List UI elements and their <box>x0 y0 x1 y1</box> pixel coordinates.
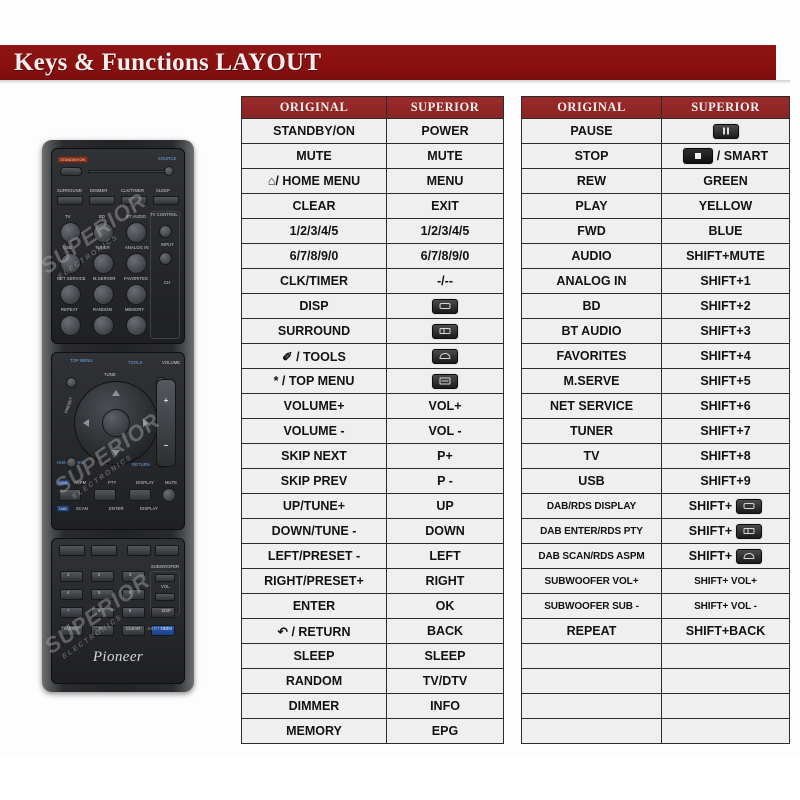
remote-label-tune-up: TUNE <box>104 373 116 378</box>
cell-original: ANALOG IN <box>522 269 662 294</box>
remote-dpad-up-icon <box>112 390 120 396</box>
remote-key-tv-power <box>159 225 172 238</box>
cell-superior: P+ <box>387 444 504 469</box>
cell-original: CLEAR <box>242 194 387 219</box>
remote-label-top-menu: TOP MENU <box>70 359 93 364</box>
remote-label-display: DISPLAY <box>136 481 154 486</box>
remote-label-dab-enter: ENTER <box>109 507 124 512</box>
remote-key-5 <box>91 589 114 600</box>
remote-label-aspm: ASPM <box>74 481 86 486</box>
remote-key-volume-rocker: + − <box>156 379 176 467</box>
cell-superior: RIGHT <box>387 569 504 594</box>
cell-superior: SHIFT+ <box>662 544 790 569</box>
cell-superior: DOWN <box>387 519 504 544</box>
cell-superior: MENU <box>387 169 504 194</box>
cell-superior: SHIFT+7 <box>662 419 790 444</box>
cell-superior-text: SHIFT+ <box>689 549 732 563</box>
cell-original: DIMMER <box>242 694 387 719</box>
remote-keypad-label-3: 3 <box>129 573 131 578</box>
cell-superior-text: SHIFT+ <box>689 524 732 538</box>
remote-label-clear: CLEAR <box>126 627 140 632</box>
cell-superior: SHIFT+5 <box>662 369 790 394</box>
remote-key-bt-audio <box>126 222 147 243</box>
cell-original: SKIP PREV <box>242 469 387 494</box>
remote-label-input: INPUT <box>161 243 174 248</box>
remote-control-image: STANDBY/ON SOURCE SURROUND DIMMER CLK/TI… <box>42 140 194 692</box>
cell-superior: OK <box>387 594 504 619</box>
pause-key-icon <box>713 124 739 139</box>
remote-label-m-server: M.SERVER <box>93 277 115 282</box>
cell-original: RIGHT/PRESET+ <box>242 569 387 594</box>
cell-original: DOWN/TUNE - <box>242 519 387 544</box>
remote-key-net-service <box>60 284 81 305</box>
cell-original: TUNER <box>522 419 662 444</box>
remote-label-random: RANDOM <box>93 308 112 313</box>
cell-original: MEMORY <box>242 719 387 744</box>
remote-key-repeat <box>60 315 81 336</box>
cell-original: M.SERVE <box>522 369 662 394</box>
table-row: SURROUND <box>242 319 504 344</box>
table-row: UP/TUNE+UP <box>242 494 504 519</box>
table-row: RANDOMTV/DTV <box>242 669 504 694</box>
table-row: DAB/RDS DISPLAYSHIFT+ <box>522 494 790 519</box>
cell-superior: BLUE <box>662 219 790 244</box>
cell-superior: SHIFT+9 <box>662 469 790 494</box>
remote-key-usb <box>60 253 81 274</box>
remote-key-3 <box>122 571 145 582</box>
remote-key-bd <box>93 222 114 243</box>
table-row: SLEEPSLEEP <box>242 644 504 669</box>
page-root: Keys & Functions LAYOUT STANDBY/ON SOURC… <box>0 0 800 800</box>
table-row: SKIP NEXTP+ <box>242 444 504 469</box>
remote-keypad-label-5: 5 <box>98 591 100 596</box>
table-row: MUTEMUTE <box>242 144 504 169</box>
remote-brand-logo: Pioneer <box>42 649 194 666</box>
table-row <box>522 644 790 669</box>
cell-superior: SHIFT+8 <box>662 444 790 469</box>
cell-superior: SHIFT+ <box>662 519 790 544</box>
remote-keypad-label-9: 9 <box>129 609 131 614</box>
remote-label-bt-audio: BT AUDIO <box>126 215 146 220</box>
table-row: BT AUDIOSHIFT+3 <box>522 319 790 344</box>
cell-original: DAB ENTER/RDS PTY <box>522 519 662 544</box>
remote-label-dimmer: DIMMER <box>90 189 107 194</box>
cell-superior: 6/7/8/9/0 <box>387 244 504 269</box>
remote-model-code: AXD7742 <box>147 626 168 631</box>
topmenu-key-icon <box>432 374 458 389</box>
cell-superior: UP <box>387 494 504 519</box>
remote-label-subwoofer: SUBWOOFER <box>151 565 179 570</box>
cell-original: SKIP NEXT <box>242 444 387 469</box>
remote-key-memory <box>126 315 147 336</box>
cell-superior: YELLOW <box>662 194 790 219</box>
table-row <box>522 694 790 719</box>
table-row <box>522 719 790 744</box>
remote-label-analog-in: ANALOG IN <box>125 246 149 251</box>
cell-original: MUTE <box>242 144 387 169</box>
remote-dpad-right-icon <box>143 419 149 427</box>
table-row: BDSHIFT+2 <box>522 294 790 319</box>
table-row: CLEAREXIT <box>242 194 504 219</box>
cell-original: CLK/TIMER <box>242 269 387 294</box>
page-banner: Keys & Functions LAYOUT <box>0 45 776 80</box>
remote-label-audio: AUDIO <box>64 627 78 632</box>
table-row: TVSHIFT+8 <box>522 444 790 469</box>
remote-keypad-label-8: 8 <box>98 609 100 614</box>
table-row: SKIP PREVP - <box>242 469 504 494</box>
remote-key-7 <box>60 607 83 618</box>
table-header-row: ORIGINAL SUPERIOR <box>242 97 504 119</box>
column-header-original: ORIGINAL <box>522 97 662 119</box>
remote-keypad-label-4: 4 <box>67 591 69 596</box>
cell-original: UP/TUNE+ <box>242 494 387 519</box>
remote-label-sleep: SLEEP <box>156 189 170 194</box>
remote-label-dab-display: DISPLAY <box>140 507 158 512</box>
cell-superior: SHIFT+2 <box>662 294 790 319</box>
cell-superior: MUTE <box>387 144 504 169</box>
table-row: FWDBLUE <box>522 219 790 244</box>
remote-label-vol: VOL <box>161 585 170 590</box>
table-row <box>522 669 790 694</box>
tools-key-icon <box>736 549 762 564</box>
cell-superior: SHIFT+ VOL - <box>662 594 790 619</box>
volume-up-icon: + <box>164 396 169 405</box>
table-body-left: STANDBY/ONPOWERMUTEMUTE⌂/ HOME MENUMENUC… <box>242 119 504 744</box>
surround-key-icon <box>432 324 458 339</box>
stop-key-icon <box>683 148 713 164</box>
remote-key-9 <box>122 607 145 618</box>
cell-superior: LEFT <box>387 544 504 569</box>
cell-original: PAUSE <box>522 119 662 144</box>
cell-superior: / SMART <box>662 144 790 169</box>
table-row: VOLUME+VOL+ <box>242 394 504 419</box>
cell-superior: SHIFT+BACK <box>662 619 790 644</box>
table-row: NET SERVICESHIFT+6 <box>522 394 790 419</box>
remote-label-tuner: TUNER <box>95 246 110 251</box>
remote-panel-middle: TOP MENU TOOLS VOLUME TUNE TUNE PRESET E… <box>51 352 185 530</box>
cell-superior: POWER <box>387 119 504 144</box>
cell-superior <box>662 119 790 144</box>
surround-key-icon <box>736 524 762 539</box>
footer-whitespace <box>0 756 800 800</box>
table-row: DAB ENTER/RDS PTYSHIFT+ <box>522 519 790 544</box>
cell-superior: INFO <box>387 694 504 719</box>
remote-key-sleep <box>153 196 179 205</box>
cell-original: REPEAT <box>522 619 662 644</box>
cell-superior: VOL+ <box>387 394 504 419</box>
remote-keypad-label-6: 6 <box>129 591 131 596</box>
remote-key-input <box>159 252 172 265</box>
remote-body: STANDBY/ON SOURCE SURROUND DIMMER CLK/TI… <box>42 140 194 692</box>
cell-original: 6/7/8/9/0 <box>242 244 387 269</box>
cell-superior-empty <box>662 719 790 744</box>
remote-key-dimmer <box>89 196 115 205</box>
remote-dpad <box>74 381 158 465</box>
cell-original: TV <box>522 444 662 469</box>
cell-superior <box>387 294 504 319</box>
remote-label-clktimer: CLK/TIMER <box>121 189 144 194</box>
table-row: STANDBY/ONPOWER <box>242 119 504 144</box>
disp-key-icon <box>736 499 762 514</box>
disp-key-icon <box>432 299 458 314</box>
cell-original: AUDIO <box>522 244 662 269</box>
remote-key-skip-next <box>91 545 117 556</box>
cell-superior <box>387 344 504 369</box>
remote-label-bd: BD <box>99 215 105 220</box>
cell-superior: VOL - <box>387 419 504 444</box>
cell-superior: SHIFT+3 <box>662 319 790 344</box>
remote-label-rds: RDS <box>57 480 69 486</box>
cell-superior: SHIFT+MUTE <box>662 244 790 269</box>
remote-label-dsp: DSP <box>162 609 171 614</box>
cell-superior: TV/DTV <box>387 669 504 694</box>
remote-label-tv: TV <box>65 215 71 220</box>
remote-label-scan: SCAN <box>76 507 88 512</box>
table-row: PLAYYELLOW <box>522 194 790 219</box>
cell-original-empty <box>522 719 662 744</box>
cell-superior: SLEEP <box>387 644 504 669</box>
table-row: DOWN/TUNE -DOWN <box>242 519 504 544</box>
mapping-table-right: ORIGINAL SUPERIOR PAUSESTOP/ SMARTREWGRE… <box>521 96 790 744</box>
table-row: RIGHT/PRESET+RIGHT <box>242 569 504 594</box>
remote-label-standby: STANDBY/ON <box>58 157 87 163</box>
cell-original: SUBWOOFER VOL+ <box>522 569 662 594</box>
table-row: 6/7/8/9/06/7/8/9/0 <box>242 244 504 269</box>
cell-original: PLAY <box>522 194 662 219</box>
remote-key-analog-in <box>126 253 147 274</box>
cell-original: RANDOM <box>242 669 387 694</box>
table-row: FAVORITESSHIFT+4 <box>522 344 790 369</box>
cell-original: SUBWOOFER SUB - <box>522 594 662 619</box>
table-row: TUNERSHIFT+7 <box>522 419 790 444</box>
remote-key-8 <box>91 607 114 618</box>
cell-original: BT AUDIO <box>522 319 662 344</box>
cell-superior: SHIFT+1 <box>662 269 790 294</box>
remote-key-source <box>164 166 174 176</box>
cell-original: 1/2/3/4/5 <box>242 219 387 244</box>
cell-original: BD <box>522 294 662 319</box>
remote-key-skip-prev <box>59 545 85 556</box>
remote-key-subwoofer-up <box>155 574 175 582</box>
remote-label-preset: PRESET <box>64 397 74 414</box>
table-row: DISP <box>242 294 504 319</box>
cell-original: VOLUME - <box>242 419 387 444</box>
remote-label-source: SOURCE <box>158 157 176 162</box>
table-row: ⌂/ HOME MENUMENU <box>242 169 504 194</box>
cell-superior: EPG <box>387 719 504 744</box>
remote-label-net-service: NET SERVICE <box>57 277 86 282</box>
remote-key-play <box>94 489 116 501</box>
remote-label-repeat: REPEAT <box>61 308 78 313</box>
column-header-original: ORIGINAL <box>242 97 387 119</box>
remote-key-1 <box>60 571 83 582</box>
cell-original: LEFT/PRESET - <box>242 544 387 569</box>
remote-key-top-menu <box>66 377 77 388</box>
table-header-row: ORIGINAL SUPERIOR <box>522 97 790 119</box>
remote-label-memory: MEMORY <box>125 308 144 313</box>
remote-label-pty: PTY <box>108 481 116 486</box>
cell-original-empty <box>522 669 662 694</box>
table-body-right: PAUSESTOP/ SMARTREWGREENPLAYYELLOWFWDBLU… <box>522 119 790 744</box>
remote-label-mute: MUTE <box>165 481 177 486</box>
table-row: 1/2/3/4/51/2/3/4/5 <box>242 219 504 244</box>
table-row: AUDIOSHIFT+MUTE <box>522 244 790 269</box>
table-row: STOP/ SMART <box>522 144 790 169</box>
remote-label-ch: CH <box>164 281 170 286</box>
remote-key-mute <box>162 488 176 502</box>
remote-dpad-down-icon <box>112 450 120 456</box>
cell-superior: 1/2/3/4/5 <box>387 219 504 244</box>
table-row: ANALOG INSHIFT+1 <box>522 269 790 294</box>
cell-superior-empty <box>662 644 790 669</box>
table-row: CLK/TIMER-/-- <box>242 269 504 294</box>
cell-original: ENTER <box>242 594 387 619</box>
cell-original: ↶ / RETURN <box>242 619 387 644</box>
cell-superior: -/-- <box>387 269 504 294</box>
table-row: * / TOP MENU <box>242 369 504 394</box>
remote-label-favorites: FAVORITES <box>124 277 148 282</box>
cell-original: ⌂/ HOME MENU <box>242 169 387 194</box>
remote-label-volume: VOLUME <box>162 361 180 366</box>
table-row: VOLUME -VOL - <box>242 419 504 444</box>
remote-key-subwoofer-down <box>155 593 175 601</box>
table-row: REWGREEN <box>522 169 790 194</box>
mapping-table-left: ORIGINAL SUPERIOR STANDBY/ONPOWERMUTEMUT… <box>241 96 504 744</box>
remote-key-2 <box>91 571 114 582</box>
remote-keypad-label-1: 1 <box>67 573 69 578</box>
table-row: REPEATSHIFT+BACK <box>522 619 790 644</box>
remote-key-enter <box>102 409 130 437</box>
remote-panel-top: STANDBY/ON SOURCE SURROUND DIMMER CLK/TI… <box>51 148 185 344</box>
remote-keypad-label-0: 0 <box>99 627 101 632</box>
remote-key-tuner <box>93 253 114 274</box>
cell-original: FWD <box>522 219 662 244</box>
cell-original: USB <box>522 469 662 494</box>
remote-key-clktimer <box>121 196 147 205</box>
remote-key-4 <box>60 589 83 600</box>
remote-label-tools: TOOLS <box>128 361 143 366</box>
cell-original: FAVORITES <box>522 344 662 369</box>
cell-original: STANDBY/ON <box>242 119 387 144</box>
remote-key-tv <box>60 222 81 243</box>
cell-original: VOLUME+ <box>242 394 387 419</box>
remote-label-usb: USB <box>63 246 72 251</box>
cell-superior: P - <box>387 469 504 494</box>
remote-key-rew <box>127 545 151 556</box>
remote-key-bar <box>88 170 170 173</box>
cell-original-empty <box>522 694 662 719</box>
remote-key-0 <box>91 625 114 636</box>
remote-label-surround: SURROUND <box>57 189 82 194</box>
remote-label-tv-control: TV CONTROL <box>150 213 178 218</box>
cell-superior: SHIFT+4 <box>662 344 790 369</box>
table-row: DIMMERINFO <box>242 694 504 719</box>
remote-key-6 <box>122 589 145 600</box>
table-row: LEFT/PRESET -LEFT <box>242 544 504 569</box>
cell-original: NET SERVICE <box>522 394 662 419</box>
cell-original: SLEEP <box>242 644 387 669</box>
page-title: Keys & Functions LAYOUT <box>0 49 321 77</box>
table-row: PAUSE <box>522 119 790 144</box>
table-row: ENTEROK <box>242 594 504 619</box>
remote-key-favorites <box>126 284 147 305</box>
remote-key-pause <box>59 489 81 501</box>
column-header-superior: SUPERIOR <box>387 97 504 119</box>
table-row: SUBWOOFER SUB -SHIFT+ VOL - <box>522 594 790 619</box>
tools-key-icon <box>432 349 458 364</box>
remote-keypad-label-7: 7 <box>67 609 69 614</box>
remote-key-m-server <box>93 284 114 305</box>
table-row: SUBWOOFER VOL+SHIFT+ VOL+ <box>522 569 790 594</box>
banner-shadow <box>0 80 790 84</box>
cell-superior-text: SHIFT+ <box>689 499 732 513</box>
table-row: ✐ / TOOLS <box>242 344 504 369</box>
cell-original: STOP <box>522 144 662 169</box>
cell-superior: GREEN <box>662 169 790 194</box>
cell-superior <box>387 369 504 394</box>
cell-superior-empty <box>662 694 790 719</box>
column-header-superior: SUPERIOR <box>662 97 790 119</box>
remote-dpad-left-icon <box>83 419 89 427</box>
cell-original: DAB/RDS DISPLAY <box>522 494 662 519</box>
table-row: M.SERVESHIFT+5 <box>522 369 790 394</box>
cell-superior: BACK <box>387 619 504 644</box>
cell-original: ✐ / TOOLS <box>242 344 387 369</box>
cell-superior-text: / SMART <box>717 149 768 163</box>
cell-original: DISP <box>242 294 387 319</box>
remote-key-surround <box>57 196 83 205</box>
table-row: DAB SCAN/RDS ASPMSHIFT+ <box>522 544 790 569</box>
cell-superior: SHIFT+6 <box>662 394 790 419</box>
remote-key-stop <box>129 489 151 501</box>
remote-keypad-label-2: 2 <box>98 573 100 578</box>
remote-key-random <box>93 315 114 336</box>
remote-label-return: RETURN <box>132 463 150 468</box>
volume-down-icon: − <box>164 441 169 450</box>
remote-key-fwd <box>155 545 179 556</box>
cell-superior: SHIFT+ <box>662 494 790 519</box>
cell-original-empty <box>522 644 662 669</box>
remote-label-dab: DAB <box>57 506 69 512</box>
cell-superior: EXIT <box>387 194 504 219</box>
table-row: USBSHIFT+9 <box>522 469 790 494</box>
cell-superior: SHIFT+ VOL+ <box>662 569 790 594</box>
table-row: ↶ / RETURNBACK <box>242 619 504 644</box>
cell-original: DAB SCAN/RDS ASPM <box>522 544 662 569</box>
remote-key-standby <box>60 167 82 176</box>
table-row: MEMORYEPG <box>242 719 504 744</box>
cell-original: REW <box>522 169 662 194</box>
cell-superior-empty <box>662 669 790 694</box>
cell-superior <box>387 319 504 344</box>
cell-original: * / TOP MENU <box>242 369 387 394</box>
cell-original: SURROUND <box>242 319 387 344</box>
remote-key-home-menu <box>66 457 77 468</box>
